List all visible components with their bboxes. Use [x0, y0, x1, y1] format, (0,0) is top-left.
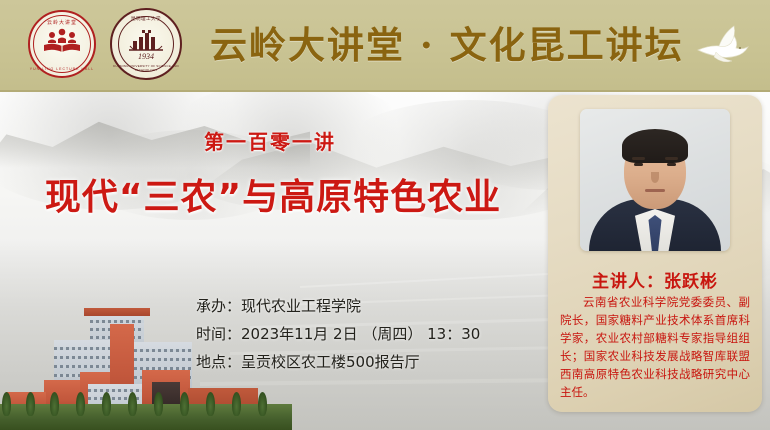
yunling-lecture-hall-logo: 云岭大讲堂 YUN LING LECTURE HALL	[28, 10, 96, 78]
tree	[2, 392, 11, 416]
portrait-eye-right	[667, 163, 676, 166]
logo-arc-top-text: 昆明理工大学	[112, 16, 180, 22]
building-block	[54, 340, 112, 388]
logo-founding-year: 1934	[112, 52, 180, 61]
detail-organizer: 承办：现代农业工程学院	[196, 292, 480, 320]
talk-title: 现代“三农”与高原特色农业	[18, 168, 528, 220]
tree	[26, 392, 35, 416]
tree	[50, 392, 59, 416]
logo-arc-bottom-text: YUN LING LECTURE HALL	[29, 67, 94, 71]
white-dove-icon	[692, 20, 754, 68]
speaker-info-card: 主讲人：张跃彬 云南省农业科学院党委委员、副院长，国家糖料产业技术体系首席科学家…	[548, 95, 762, 412]
building-tower	[110, 324, 134, 412]
tree	[232, 392, 241, 416]
portrait-eye-left	[634, 163, 643, 166]
building-block	[6, 392, 46, 414]
kust-university-logo: 昆明理工大学 1934 KUNMING UNIVERSITY OF SCIENC…	[110, 8, 182, 80]
tree	[76, 392, 85, 416]
speaker-portrait	[580, 109, 730, 251]
tree	[102, 392, 111, 416]
tree	[258, 392, 267, 416]
poster-header-title: 云岭大讲堂 · 文化昆工讲坛	[210, 16, 660, 74]
detail-time: 时间：2023年11月 2日 （周四） 13：30	[196, 320, 480, 348]
speaker-name: 主讲人：张跃彬	[548, 267, 762, 292]
tree	[206, 392, 215, 416]
lecture-poster: 云岭大讲堂 YUN LING LECTURE HALL 昆明理工大学	[0, 0, 770, 430]
building-block	[134, 342, 192, 388]
building-roof	[84, 308, 150, 316]
poster-header: 云岭大讲堂 YUN LING LECTURE HALL 昆明理工大学	[0, 0, 770, 92]
logo-arc-bottom-text: KUNMING UNIVERSITY OF SCIENCE AND TECHNO…	[112, 64, 180, 72]
building-block	[80, 372, 110, 414]
building-block	[88, 384, 144, 414]
people-and-open-book-icon	[42, 28, 82, 54]
tree	[154, 392, 163, 416]
building-block	[188, 388, 258, 414]
lecture-number: 第一百零一讲	[60, 126, 480, 155]
hedge-row	[0, 404, 292, 430]
portrait-brow-left	[632, 157, 645, 160]
campus-gate-icon	[129, 28, 163, 52]
portrait-brow-right	[665, 157, 678, 160]
event-details: 承办：现代农业工程学院 时间：2023年11月 2日 （周四） 13：30 地点…	[196, 292, 480, 376]
tree	[128, 392, 137, 416]
building-block	[44, 380, 80, 414]
speaker-bio: 云南省农业科学院党委委员、副院长，国家糖料产业技术体系首席科学家，农业农村部糖料…	[560, 293, 750, 401]
building-entrance-block	[142, 370, 190, 414]
portrait-mouth	[645, 189, 665, 192]
portrait-nose	[651, 172, 659, 183]
tree	[180, 392, 189, 416]
logo-arc-top-text: 云岭大讲堂	[30, 19, 94, 26]
detail-location: 地点：呈贡校区农工楼500报告厅	[196, 348, 480, 376]
building-block	[90, 314, 144, 354]
building-entrance	[152, 382, 180, 414]
